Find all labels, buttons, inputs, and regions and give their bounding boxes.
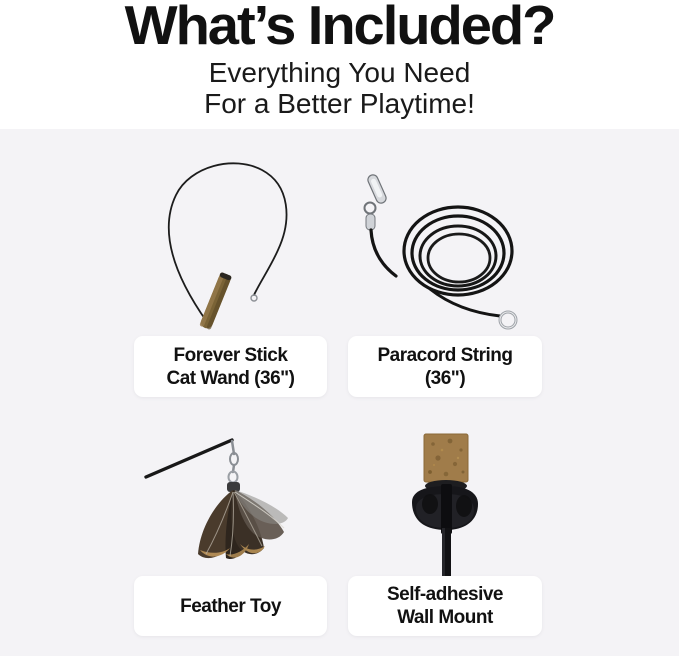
feather-toy-illustration bbox=[142, 432, 332, 580]
feather-toy-photo bbox=[142, 432, 332, 580]
label-paracord-string: Paracord String (36") bbox=[348, 336, 542, 397]
label-feather-toy: Feather Toy bbox=[134, 576, 327, 636]
cat-wand-photo bbox=[150, 150, 325, 335]
mount-body bbox=[412, 484, 478, 534]
paracord-photo bbox=[358, 168, 536, 340]
label-self-adhesive-wall-mount: Self-adhesive Wall Mount bbox=[348, 576, 542, 636]
swivel-clip bbox=[227, 441, 240, 492]
whats-included-infographic: What’s Included? Everything You Need For… bbox=[0, 0, 679, 656]
page-title: What’s Included? bbox=[0, 0, 679, 54]
clip-hardware bbox=[365, 173, 388, 230]
wall-mount-photo bbox=[378, 428, 528, 588]
cork-pad bbox=[424, 434, 468, 482]
wall-mount-illustration bbox=[378, 428, 528, 588]
label-forever-stick-cat-wand: Forever Stick Cat Wand (36") bbox=[134, 336, 327, 397]
cat-wand-illustration bbox=[150, 150, 325, 335]
paracord-illustration bbox=[358, 168, 536, 340]
feather-cluster bbox=[198, 490, 288, 559]
page-subtitle: Everything You Need For a Better Playtim… bbox=[0, 57, 679, 119]
